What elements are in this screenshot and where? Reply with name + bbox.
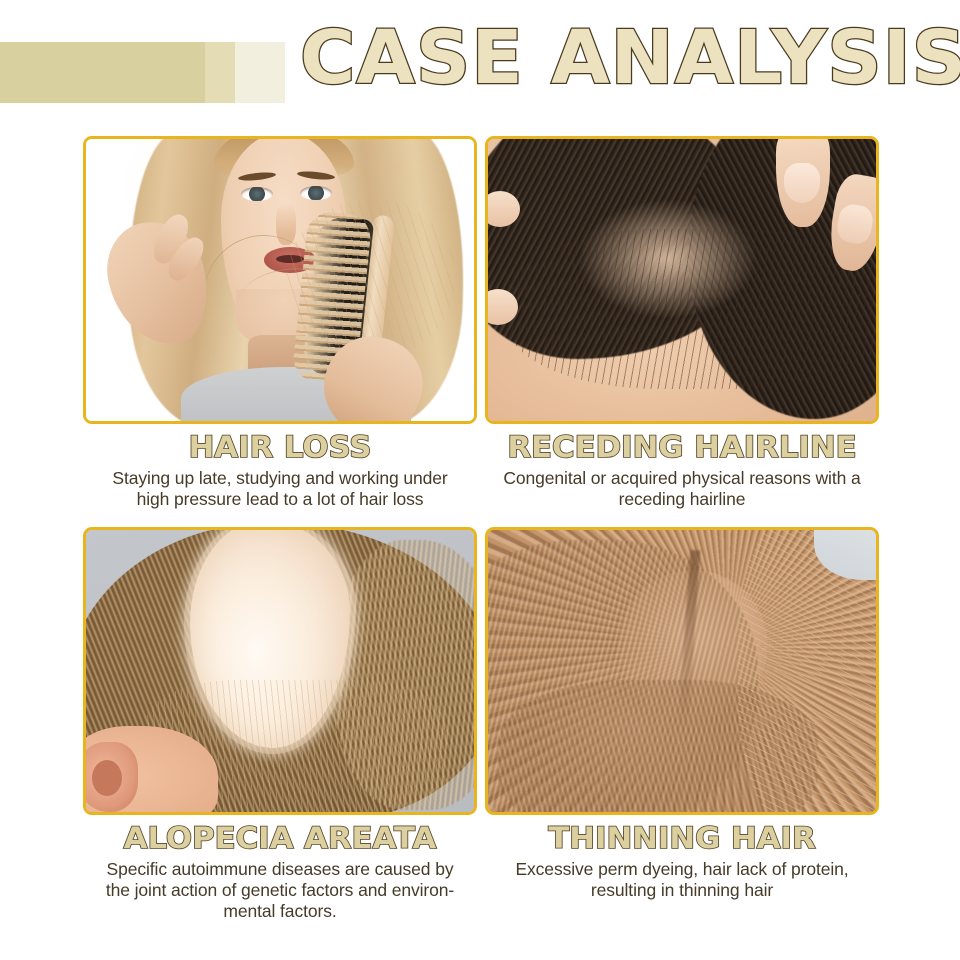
photo-woman-holding-hairbrush-with-fallen-hair <box>86 139 474 421</box>
banner-band-1 <box>0 42 205 103</box>
page-title: CASE ANALYSIS <box>300 16 912 100</box>
photo-thinning-hair-crown-visible-scalp <box>488 530 876 812</box>
photo-frame <box>485 136 879 424</box>
photo-frame <box>485 527 879 815</box>
case-card-alopecia-areata: ALOPECIA AREATA Specific autoimmune dise… <box>83 527 477 922</box>
case-label: HAIR LOSS <box>71 431 489 463</box>
case-card-receding-hairline: RECEDING HAIRLINE Congenital or acquired… <box>485 136 879 510</box>
title-banner-decoration <box>0 42 285 103</box>
caption-line: resulting in thinning hair <box>485 880 879 901</box>
case-label: THINNING HAIR <box>473 822 891 854</box>
case-caption: Staying up late, studying and working un… <box>83 468 477 510</box>
case-grid: HAIR LOSS Staying up late, studying and … <box>0 125 960 960</box>
page-header: CASE ANALYSIS <box>0 0 960 125</box>
caption-line: receding hairline <box>485 489 879 510</box>
caption-line: high pressure lead to a lot of hair loss <box>83 489 477 510</box>
caption-line: Excessive perm dyeing, hair lack of prot… <box>485 859 879 880</box>
caption-line: mental factors. <box>83 901 477 922</box>
case-label: ALOPECIA AREATA <box>71 822 489 854</box>
caption-line: the joint action of genetic factors and … <box>83 880 477 901</box>
photo-frame <box>83 527 477 815</box>
banner-band-3 <box>235 42 285 103</box>
photo-closeup-receding-hairline-scalp <box>488 139 876 421</box>
case-caption: Congenital or acquired physical reasons … <box>485 468 879 510</box>
caption-line: Specific autoimmune diseases are caused … <box>83 859 477 880</box>
photo-bald-patch-on-scalp <box>86 530 474 812</box>
case-caption: Excessive perm dyeing, hair lack of prot… <box>485 859 879 901</box>
case-label: RECEDING HAIRLINE <box>473 431 891 463</box>
banner-band-2 <box>205 42 235 103</box>
case-card-hair-loss: HAIR LOSS Staying up late, studying and … <box>83 136 477 510</box>
case-caption: Specific autoimmune diseases are caused … <box>83 859 477 922</box>
photo-frame <box>83 136 477 424</box>
case-card-thinning-hair: THINNING HAIR Excessive perm dyeing, hai… <box>485 527 879 901</box>
caption-line: Congenital or acquired physical reasons … <box>485 468 879 489</box>
caption-line: Staying up late, studying and working un… <box>83 468 477 489</box>
